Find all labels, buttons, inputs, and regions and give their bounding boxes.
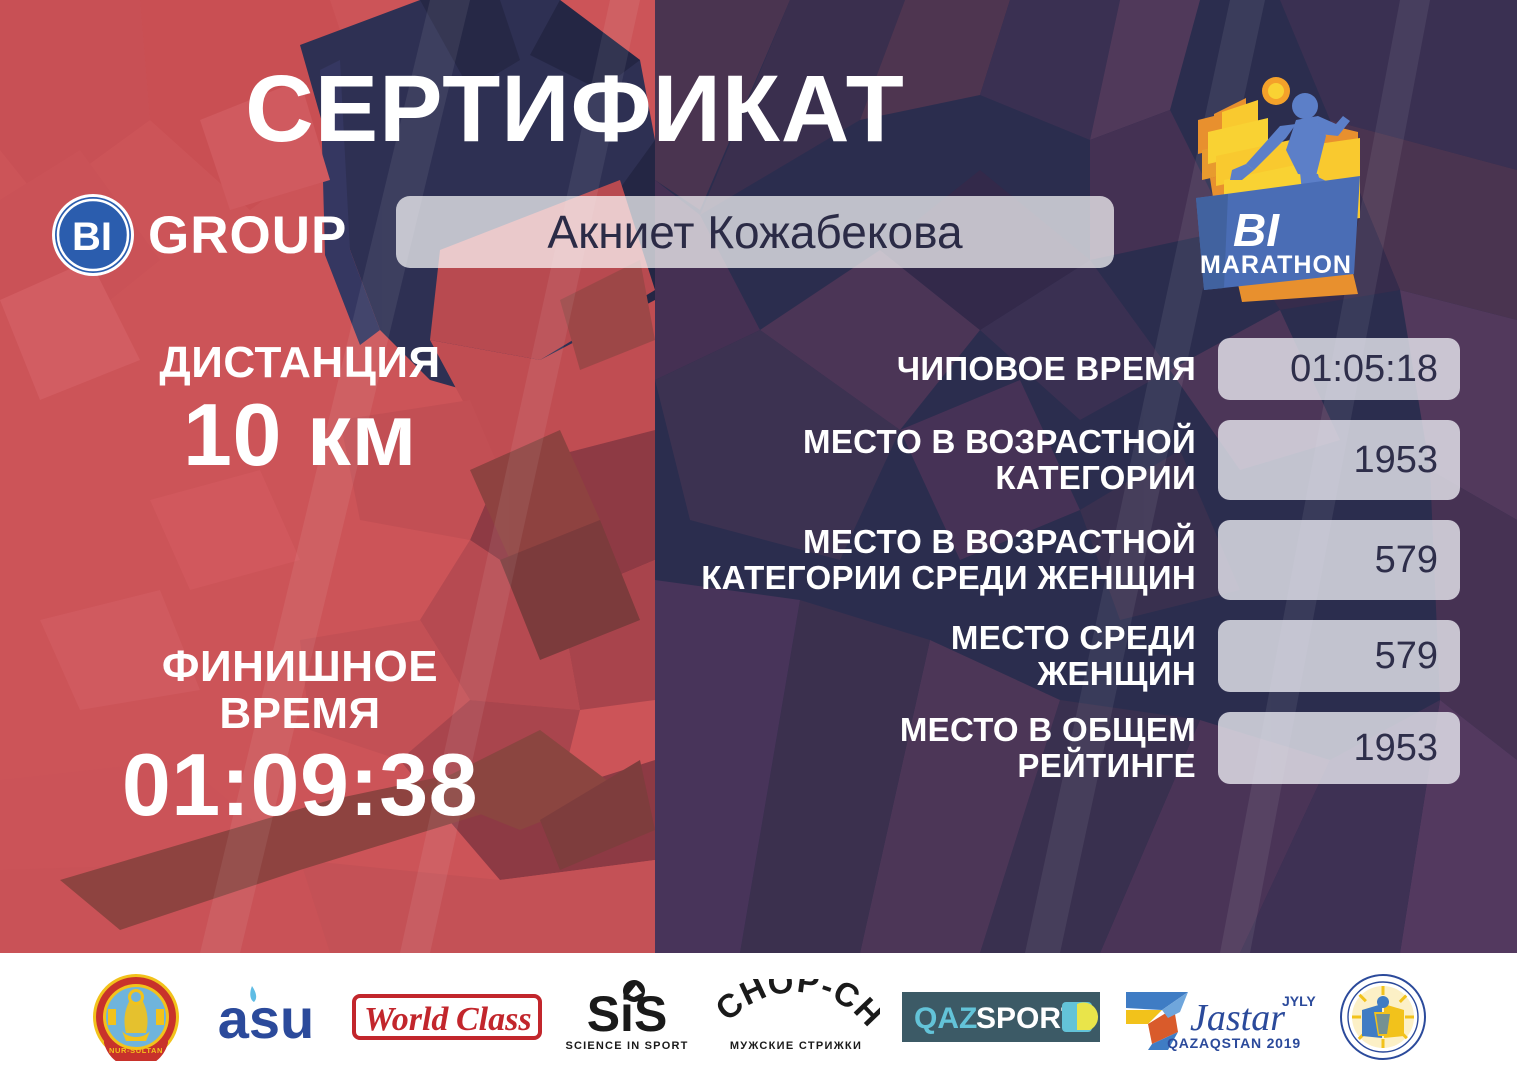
stat-row: ЧИПОВОЕ ВРЕМЯ 01:05:18: [520, 338, 1460, 400]
page-title: СЕРТИФИКАТ: [0, 62, 1150, 157]
stat-value: 01:05:18: [1290, 348, 1438, 391]
sponsor-asu-logo: asu: [202, 971, 330, 1063]
jastar-logo-sup: JYLY: [1282, 993, 1316, 1009]
stat-value: 579: [1375, 635, 1438, 678]
world-class-logo-icon: World Class: [352, 986, 542, 1048]
stat-value: 1953: [1353, 727, 1438, 770]
chop-chop-logo-icon: CHOP-CHOP МУЖСКИЕ СТРИЖКИ: [712, 979, 880, 1055]
qazsport-logo-icon: QAZ SPORT: [902, 992, 1100, 1042]
stats-list: ЧИПОВОЕ ВРЕМЯ 01:05:18 МЕСТО В ВОЗРАСТНО…: [520, 338, 1460, 784]
chop-chop-logo-text: CHOP-CHOP: [712, 979, 880, 1034]
jastar-logo-sub: QAZAQSTAN 2019: [1167, 1035, 1301, 1051]
sponsor-jastar-jyly-logo: Jastar JYLY QAZAQSTAN 2019: [1122, 971, 1318, 1063]
bi-marathon-badge-icon: BI MARATHON: [1168, 58, 1398, 313]
chop-chop-logo-sub: МУЖСКИЕ СТРИЖКИ: [729, 1040, 861, 1052]
bi-group-wordmark: GROUP: [148, 209, 347, 262]
stat-value: 579: [1375, 539, 1438, 582]
ministry-emblem-icon: [1340, 974, 1426, 1060]
certificate-canvas: СЕРТИФИКАТ Акниет Кожабекова BI GROUP: [0, 0, 1517, 1080]
stat-label: МЕСТО В ВОЗРАСТНОЙ КАТЕГОРИИ: [520, 424, 1196, 495]
stat-row: МЕСТО СРЕДИ ЖЕНЩИН 579: [520, 620, 1460, 692]
distance-value: 10 км: [0, 389, 600, 481]
stat-row: МЕСТО В ВОЗРАСТНОЙ КАТЕГОРИИ 1953: [520, 420, 1460, 500]
participant-name-bar: Акниет Кожабекова: [396, 196, 1114, 268]
bi-group-mark-icon: BI: [50, 192, 136, 278]
sis-logo-icon: SiS SCIENCE IN SPORT: [564, 979, 690, 1055]
bi-group-logo: BI GROUP: [50, 192, 347, 278]
qazsport-text-a: QAZ: [914, 1002, 977, 1035]
stat-badge: 579: [1218, 620, 1460, 692]
stat-badge: 01:05:18: [1218, 338, 1460, 400]
stat-label: МЕСТО В ВОЗРАСТНОЙ КАТЕГОРИИ СРЕДИ ЖЕНЩИ…: [520, 524, 1196, 595]
nur-sultan-emblem-icon: NUR-SULTAN: [92, 973, 180, 1061]
sponsor-sis-logo: SiS SCIENCE IN SPORT: [564, 971, 690, 1063]
stat-value: 1953: [1353, 439, 1438, 482]
bi-marathon-logo: BI MARATHON: [1168, 58, 1398, 313]
sponsor-world-class-logo: World Class: [352, 971, 542, 1063]
asu-logo-icon: asu: [202, 982, 330, 1052]
stat-badge: 579: [1218, 520, 1460, 600]
distance-label: ДИСТАНЦИЯ: [0, 340, 600, 387]
world-class-text-a: World: [364, 1001, 449, 1038]
finish-time-value: 01:09:38: [0, 739, 600, 831]
sis-logo-sub: SCIENCE IN SPORT: [565, 1040, 688, 1052]
stat-row: МЕСТО В ОБЩЕМ РЕЙТИНГЕ 1953: [520, 712, 1460, 784]
sponsor-ministry-emblem: [1340, 971, 1426, 1063]
stat-label: МЕСТО В ОБЩЕМ РЕЙТИНГЕ: [520, 712, 1196, 783]
finish-time-label: ФИНИШНОЕ ВРЕМЯ: [0, 644, 600, 737]
sponsor-qazsport-logo: QAZ SPORT: [902, 971, 1100, 1063]
bi-marathon-top-text: BI: [1233, 204, 1280, 256]
participant-name: Акниет Кожабекова: [547, 205, 962, 259]
stat-label: ЧИПОВОЕ ВРЕМЯ: [520, 351, 1196, 387]
distance-block: ДИСТАНЦИЯ 10 км: [0, 340, 600, 481]
sponsor-strip: NUR-SULTAN asu World Class SiS SCI: [0, 953, 1517, 1080]
finish-time-block: ФИНИШНОЕ ВРЕМЯ 01:09:38: [0, 644, 600, 832]
stat-row: МЕСТО В ВОЗРАСТНОЙ КАТЕГОРИИ СРЕДИ ЖЕНЩИ…: [520, 520, 1460, 600]
nur-sultan-emblem-text: NUR-SULTAN: [108, 1046, 162, 1055]
asu-logo-text: asu: [217, 987, 314, 1050]
bi-marathon-bottom-text: MARATHON: [1200, 251, 1352, 279]
stat-label: МЕСТО СРЕДИ ЖЕНЩИН: [520, 620, 1196, 691]
sponsor-nur-sultan-emblem: NUR-SULTAN: [92, 971, 180, 1063]
world-class-text-b: Class: [456, 1001, 532, 1038]
sis-logo-text: SiS: [586, 986, 667, 1042]
sponsor-chop-chop-logo: CHOP-CHOP МУЖСКИЕ СТРИЖКИ: [712, 971, 880, 1063]
jastar-jyly-logo-icon: Jastar JYLY QAZAQSTAN 2019: [1122, 978, 1318, 1056]
stat-badge: 1953: [1218, 420, 1460, 500]
svg-text:BI: BI: [72, 215, 112, 259]
jastar-logo-text: Jastar: [1190, 997, 1285, 1039]
stat-badge: 1953: [1218, 712, 1460, 784]
